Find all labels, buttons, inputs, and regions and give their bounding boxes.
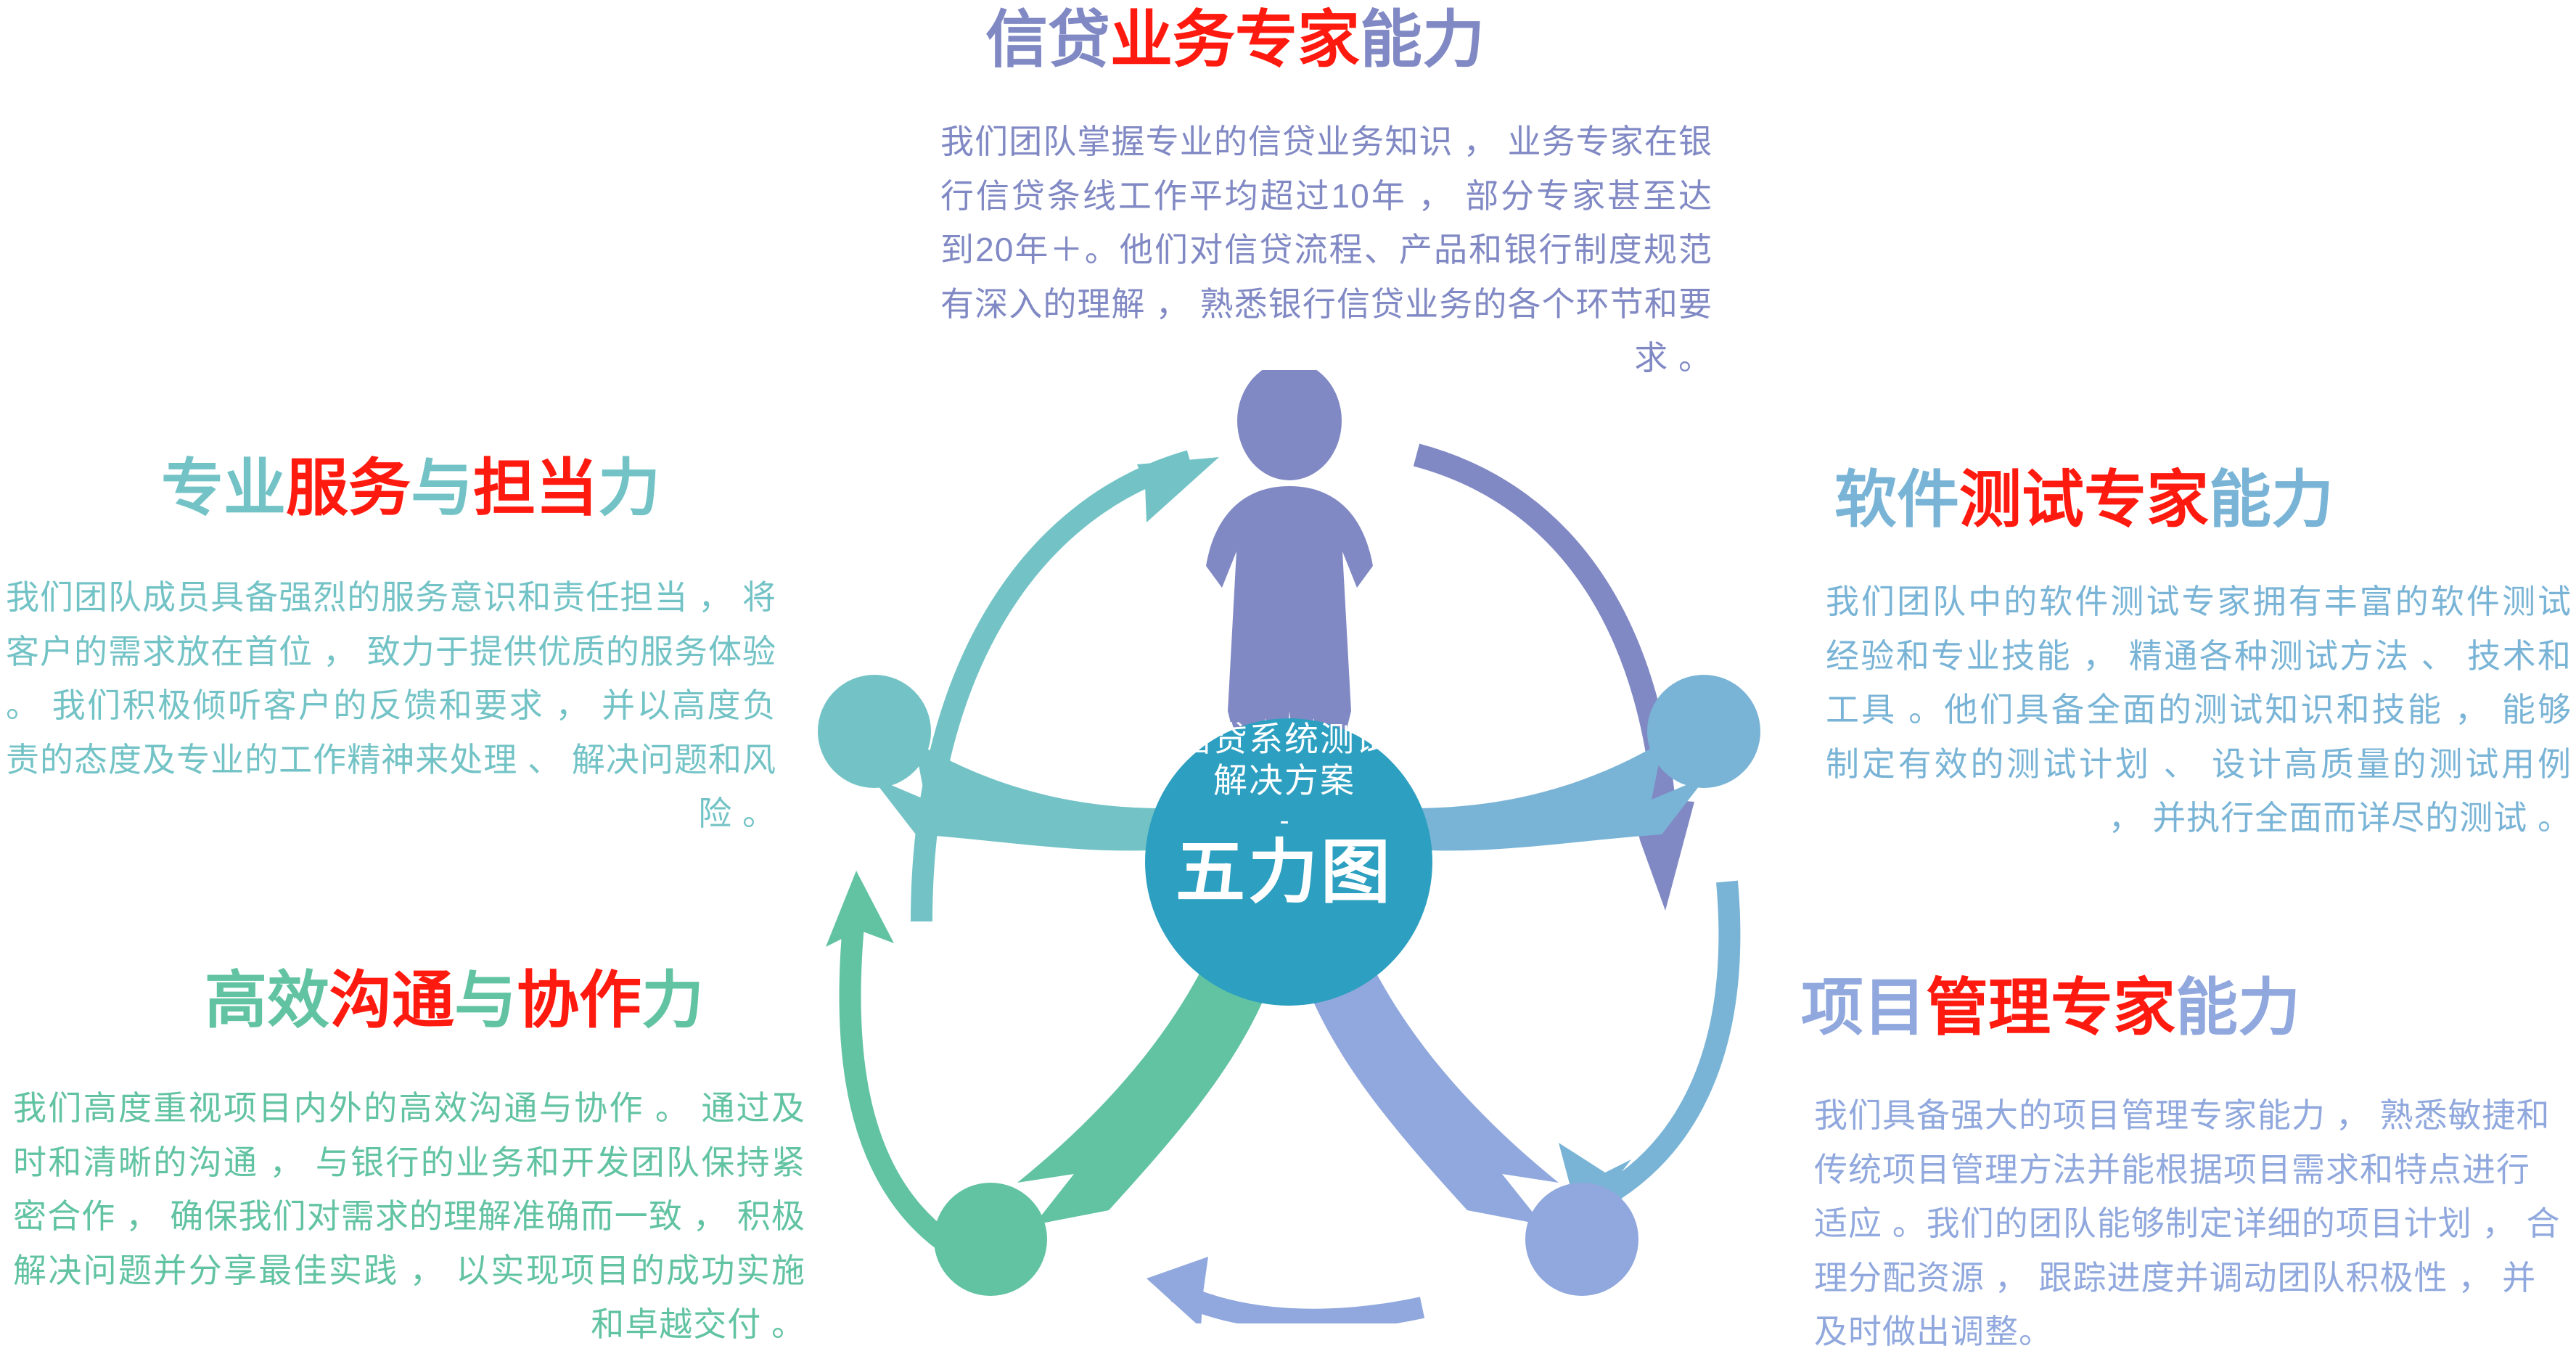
left-node-circle [818,675,931,788]
heading-run-2: 能力 [2175,973,2300,1043]
arc-arrow-bottom [1147,1257,1422,1323]
heading-run-3: 协作 [517,966,641,1035]
infographic-canvas: 信贷业务专家能力 我们团队掌握专业的信贷业务知识 ， 业务专家在银行信贷条线工作… [0,0,2576,1323]
arc-arrow-right [1559,882,1729,1225]
heading-run-1: 沟通 [329,966,454,1035]
heading-run-1: 管理专家 [1926,973,2175,1043]
heading-run-2: 能力 [2209,465,2334,535]
heading-run-2: 与 [411,453,473,523]
heading-software-test-expert: 软件测试专家能力 [1834,469,2334,531]
heading-run-0: 软件 [1834,465,1959,535]
heading-run-0: 高效 [205,966,329,1035]
heading-run-2: 与 [454,966,517,1035]
heading-run-4: 力 [641,966,704,1035]
heading-project-management-expert: 项目管理专家能力 [1801,977,2300,1039]
heading-run-1: 业务专家 [1110,5,1360,75]
heading-run-0: 信贷 [985,5,1110,75]
heading-run-0: 项目 [1801,973,1926,1043]
heading-professional-service: 专业服务与担当力 [161,457,660,520]
heading-run-2: 能力 [1360,5,1485,75]
right-node-circle [1647,675,1760,788]
paragraph-efficient-communication: 我们高度重视项目内外的高效沟通与协作 。 通过及时和清晰的沟通 ， 与银行的业务… [13,1081,805,1352]
bottom-right-node-circle [1525,1183,1638,1296]
heading-run-1: 测试专家 [1959,465,2209,535]
heading-credit-business-expert: 信贷业务专家能力 [985,9,1485,71]
heading-run-3: 担当 [473,453,598,523]
center-circle [1145,718,1432,1006]
five-forces-diagram [784,370,1792,1323]
arc-arrow-left [826,871,943,1241]
paragraph-software-test-expert: 我们团队中的软件测试专家拥有丰富的软件测试经验和专业技能 ， 精通各种测试方法 … [1826,575,2572,845]
paragraph-project-management-expert: 我们具备强大的项目管理专家能力 ， 熟悉敏捷和传统项目管理方法并能根据项目需求和… [1814,1088,2563,1359]
person-figure-icon [1206,370,1373,776]
heading-run-0: 专业 [161,453,286,523]
bottom-left-node-circle [934,1183,1047,1296]
paragraph-credit-business-expert: 我们团队掌握专业的信贷业务知识 ， 业务专家在银行信贷条线工作平均超过10年 ，… [940,115,1712,385]
heading-efficient-communication: 高效沟通与协作力 [205,969,704,1032]
heading-run-1: 服务 [286,453,411,523]
heading-run-4: 力 [598,453,660,523]
paragraph-professional-service: 我们团队成员具备强烈的服务意识和责任担当 ， 将客户的需求放在首位 ， 致力于提… [6,570,776,841]
